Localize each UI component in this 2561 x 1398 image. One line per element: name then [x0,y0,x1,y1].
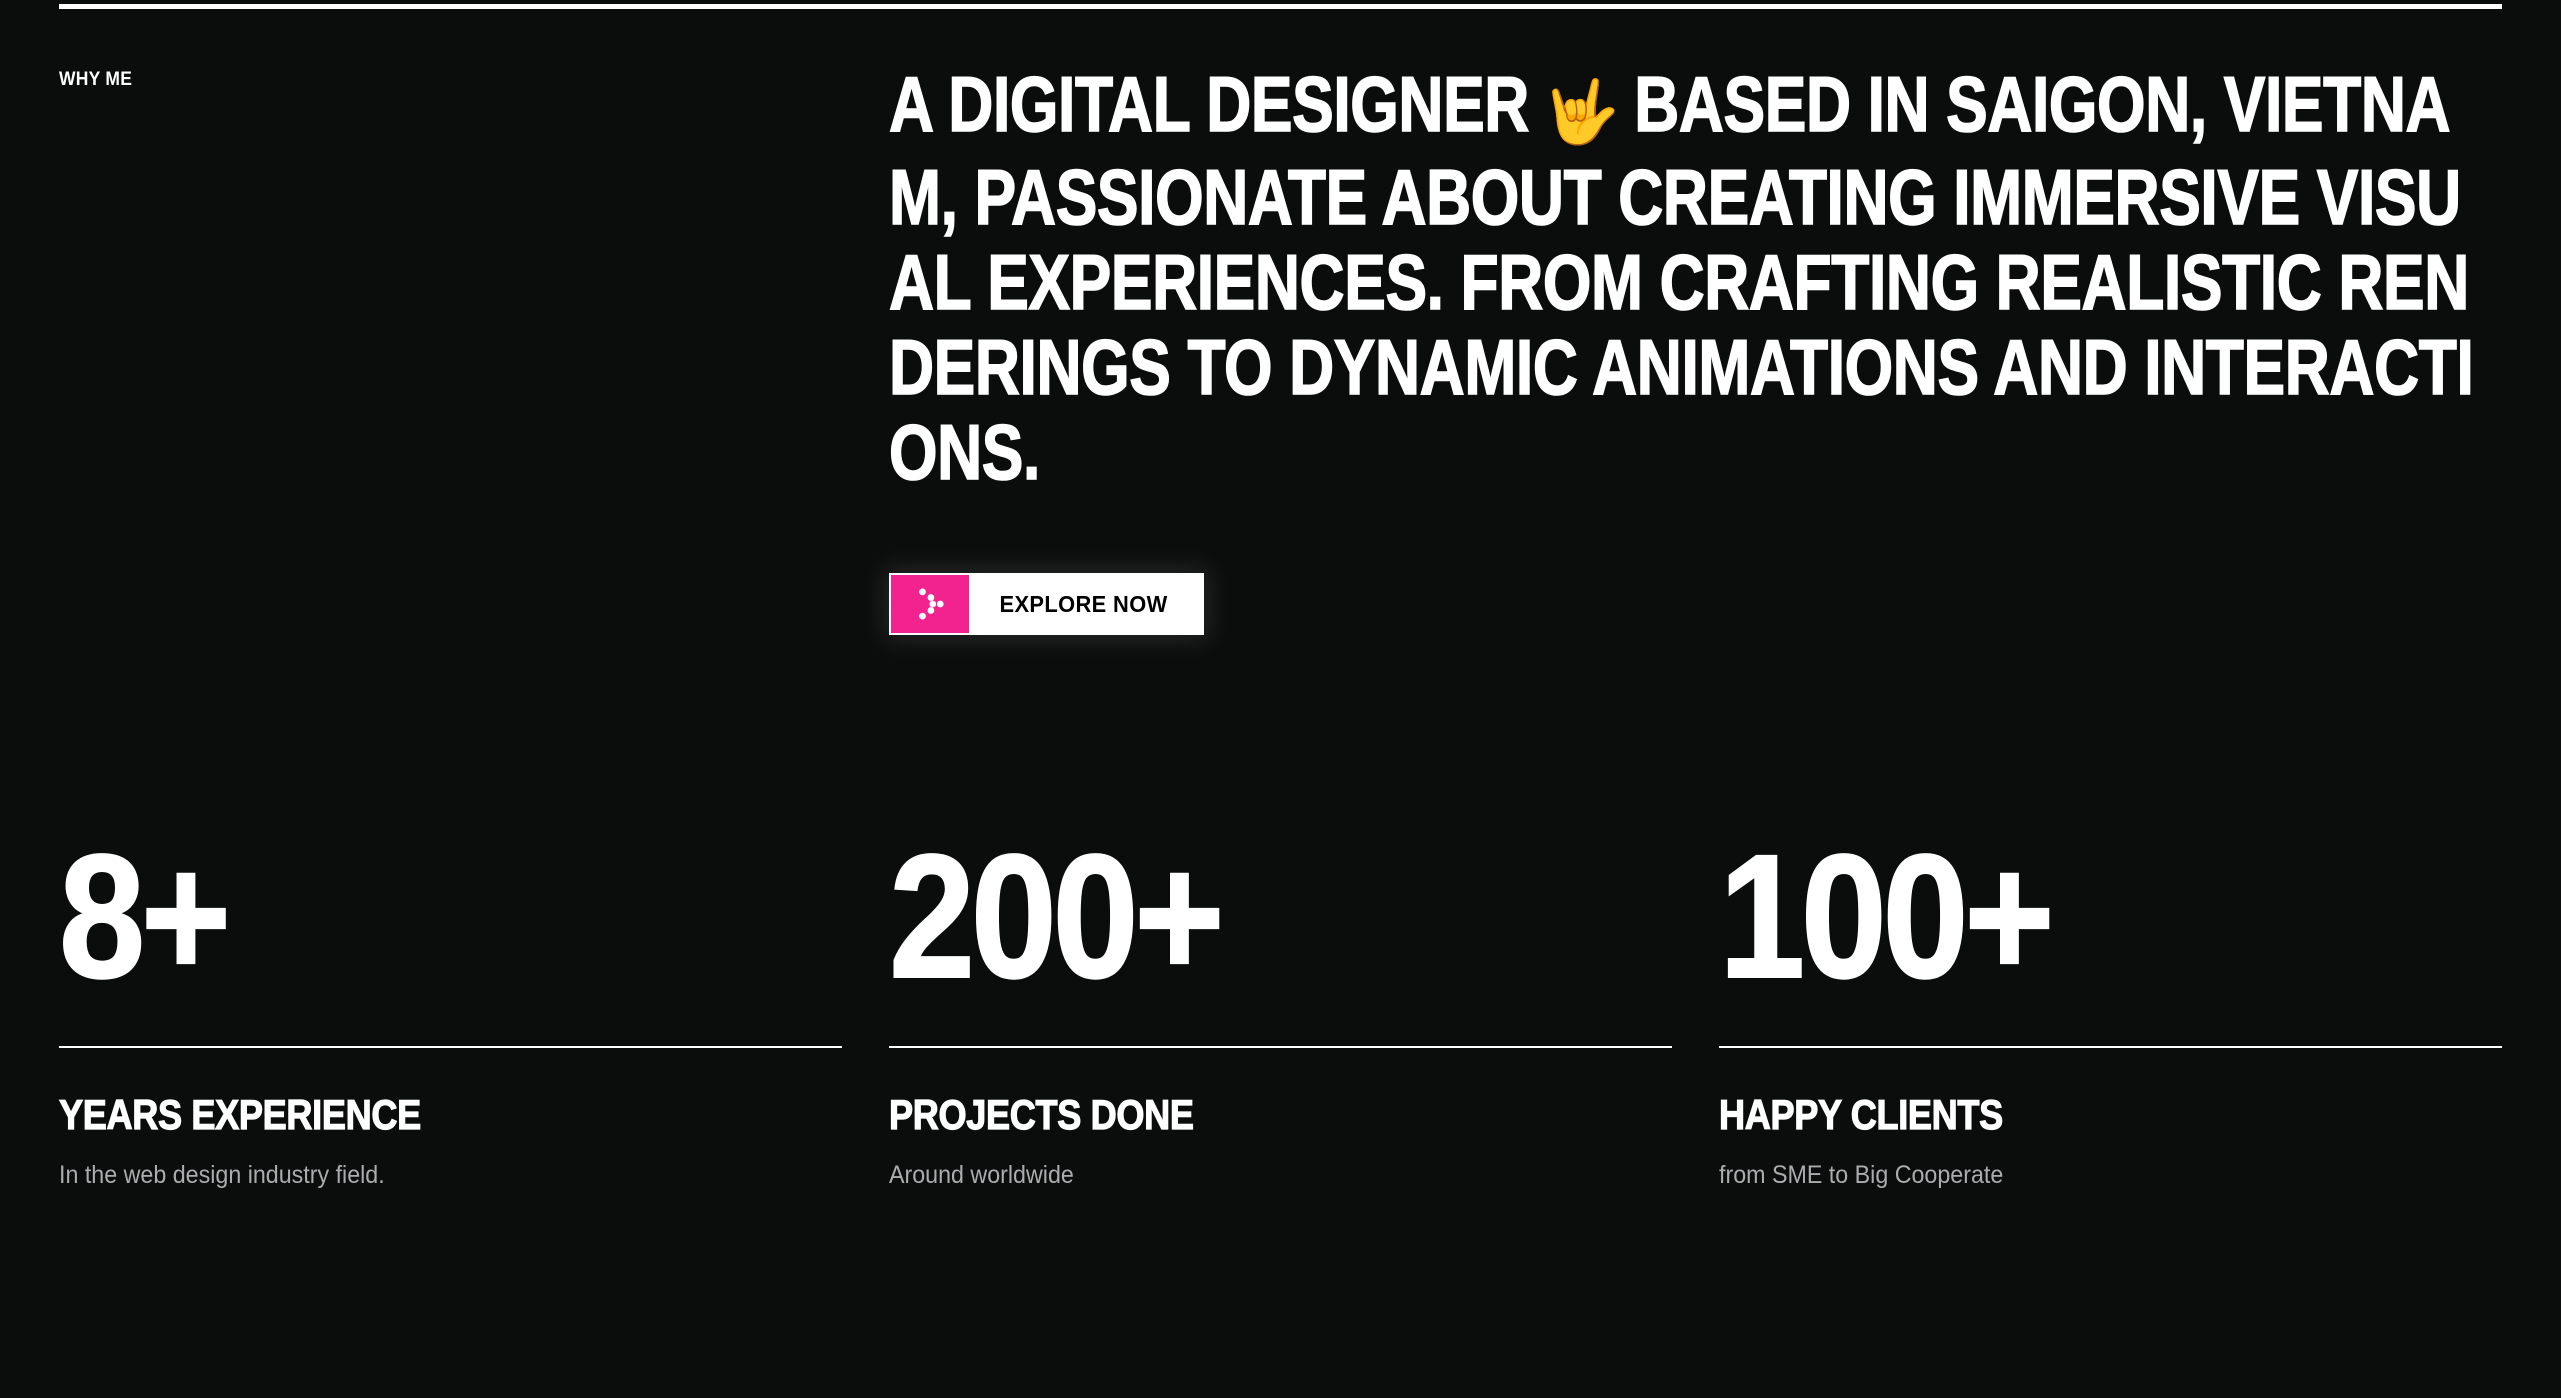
stat-value: 200+ [889,840,1578,1022]
stat-card: 8+ YEARS EXPERIENCE In the web design in… [59,840,842,1190]
stat-title: YEARS EXPERIENCE [59,1094,732,1136]
love-you-hand-emoji-icon: 🤟 [1537,70,1626,155]
stat-value: 8+ [59,840,748,1022]
stats-row: 8+ YEARS EXPERIENCE In the web design in… [59,840,2502,1190]
explore-now-button[interactable]: EXPLORE NOW [889,573,1204,635]
stat-divider-rule [889,1046,1672,1048]
stat-title: HAPPY CLIENTS [1719,1094,2392,1136]
stat-card: 100+ HAPPY CLIENTS from SME to Big Coope… [1719,840,2502,1190]
page-headline: A DIGITAL DESIGNER 🤟 BASED IN SAIGON, VI… [889,62,2505,495]
headline-text-before-emoji: A DIGITAL DESIGNER [889,60,1546,148]
explore-now-label: EXPLORE NOW [975,575,1196,633]
section-eyebrow-label: WHY ME [59,70,132,89]
top-divider-rule [59,4,2502,9]
stat-description: In the web design industry field. [59,1160,787,1190]
dotted-arrow-icon [891,575,969,633]
stat-description: from SME to Big Cooperate [1719,1160,2447,1190]
stat-title: PROJECTS DONE [889,1094,1562,1136]
stat-card: 200+ PROJECTS DONE Around worldwide [889,840,1672,1190]
stat-divider-rule [59,1046,842,1048]
headline-block: A DIGITAL DESIGNER 🤟 BASED IN SAIGON, VI… [889,62,2505,495]
stat-description: Around worldwide [889,1160,1617,1190]
stat-value: 100+ [1719,840,2408,1022]
stat-divider-rule [1719,1046,2502,1048]
